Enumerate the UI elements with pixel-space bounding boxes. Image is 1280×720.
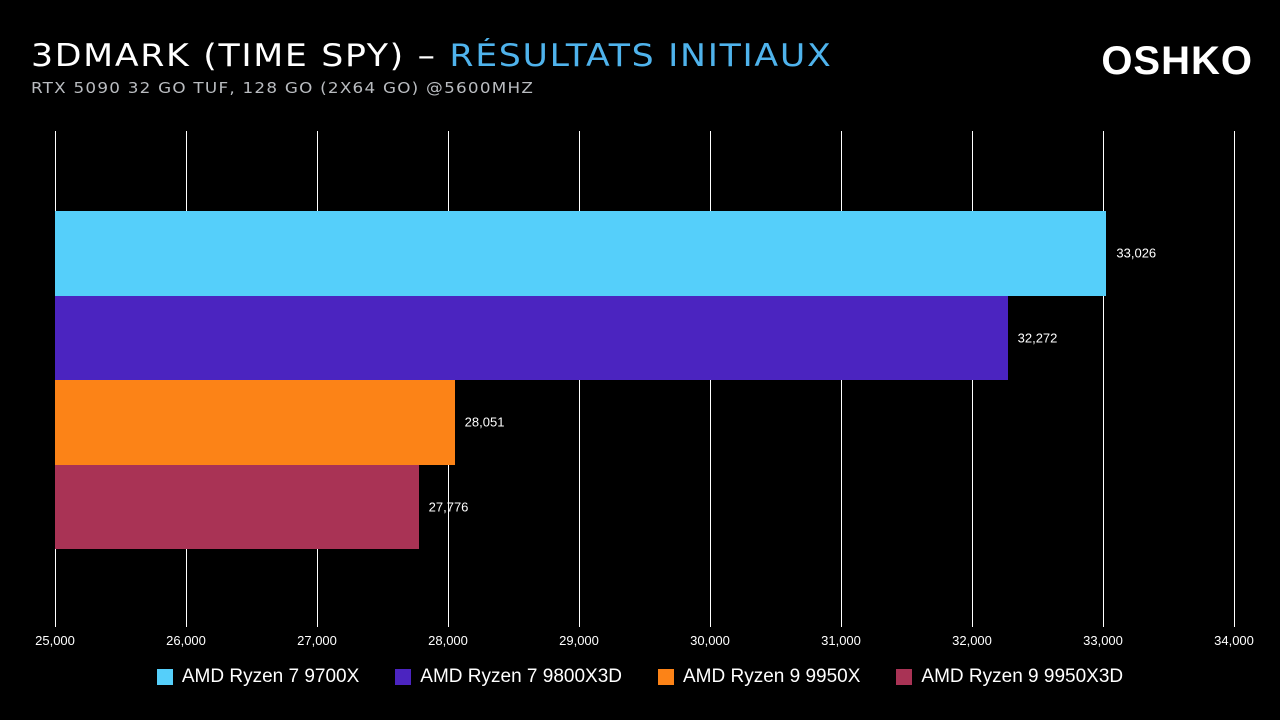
x-axis-tick-label: 29,000 bbox=[559, 633, 599, 648]
bar-row: 32,272 bbox=[55, 296, 1234, 381]
x-axis-tick-label: 33,000 bbox=[1083, 633, 1123, 648]
bar-amd-ryzen-7-9800x3d bbox=[55, 296, 1008, 381]
chart-bars: 33,02632,27228,05127,776 bbox=[55, 211, 1234, 549]
bar-value-label: 33,026 bbox=[1106, 246, 1156, 261]
legend-swatch-icon bbox=[157, 669, 173, 685]
legend-label: AMD Ryzen 9 9950X3D bbox=[921, 666, 1123, 688]
bar-row: 33,026 bbox=[55, 211, 1234, 296]
bar-amd-ryzen-9-9950x3d bbox=[55, 465, 419, 550]
legend-item-amd-ryzen-9-9950x[interactable]: AMD Ryzen 9 9950X bbox=[658, 666, 860, 688]
legend-swatch-icon bbox=[658, 669, 674, 685]
bar-value-label: 27,776 bbox=[419, 499, 469, 514]
bar-value-label: 32,272 bbox=[1008, 330, 1058, 345]
x-axis-tick-label: 30,000 bbox=[690, 633, 730, 648]
x-axis-tick-label: 26,000 bbox=[166, 633, 206, 648]
x-axis-tick-label: 25,000 bbox=[35, 633, 75, 648]
legend-swatch-icon bbox=[395, 669, 411, 685]
legend-label: AMD Ryzen 7 9700X bbox=[182, 666, 359, 688]
page-title-accent: RÉSULTATS INITIAUX bbox=[449, 38, 832, 74]
bar-value-label: 28,051 bbox=[455, 415, 505, 430]
chart-subtitle: RTX 5090 32 GO TUF, 128 GO (2X64 GO) @56… bbox=[31, 79, 534, 97]
legend-swatch-icon bbox=[896, 669, 912, 685]
bar-row: 27,776 bbox=[55, 465, 1234, 550]
x-axis-tick-label: 34,000 bbox=[1214, 633, 1254, 648]
legend-item-amd-ryzen-9-9950x3d[interactable]: AMD Ryzen 9 9950X3D bbox=[896, 666, 1123, 688]
chart-header: 3DMARK (TIME SPY) – RÉSULTATS INITIAUX R… bbox=[0, 0, 1280, 120]
legend-item-amd-ryzen-7-9800x3d[interactable]: AMD Ryzen 7 9800X3D bbox=[395, 666, 622, 688]
chart-x-axis: 25,00026,00027,00028,00029,00030,00031,0… bbox=[55, 633, 1234, 653]
legend-label: AMD Ryzen 9 9950X bbox=[683, 666, 860, 688]
brand-logo: OSHKO bbox=[1101, 39, 1253, 84]
x-axis-tick-label: 32,000 bbox=[952, 633, 992, 648]
page-title: 3DMARK (TIME SPY) – RÉSULTATS INITIAUX bbox=[31, 38, 832, 74]
bar-amd-ryzen-9-9950x bbox=[55, 380, 455, 465]
x-axis-tick-label: 28,000 bbox=[428, 633, 468, 648]
legend-item-amd-ryzen-7-9700x[interactable]: AMD Ryzen 7 9700X bbox=[157, 666, 359, 688]
bar-amd-ryzen-7-9700x bbox=[55, 211, 1106, 296]
legend-label: AMD Ryzen 7 9800X3D bbox=[420, 666, 622, 688]
chart-plot-area: 33,02632,27228,05127,776 bbox=[55, 131, 1234, 627]
chart-legend: AMD Ryzen 7 9700XAMD Ryzen 7 9800X3DAMD … bbox=[0, 660, 1280, 694]
page-title-main: 3DMARK (TIME SPY) – bbox=[31, 38, 449, 74]
x-axis-tick-label: 31,000 bbox=[821, 633, 861, 648]
x-axis-tick-label: 27,000 bbox=[297, 633, 337, 648]
gridline-34000 bbox=[1234, 131, 1235, 627]
bar-row: 28,051 bbox=[55, 380, 1234, 465]
